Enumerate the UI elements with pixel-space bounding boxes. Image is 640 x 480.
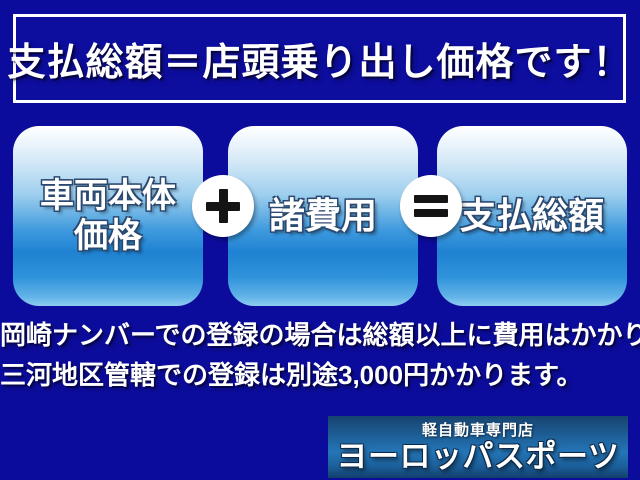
headline-text: 支払総額＝店頭乗り出し価格です！ [8,31,632,86]
note-line-mikawa: 三河地区管轄での登録は別途3,000円かかります。 [0,356,640,396]
shop-name: ヨーロッパスポーツ [337,441,620,472]
formula-box-total-payment: 支払総額 [437,126,627,306]
vehicle-price-label: 車両本体 価格 [40,176,176,256]
equals-icon-bottom-bar [414,209,448,217]
vehicle-price-label-line1: 車両本体 [40,177,176,215]
shop-logo: 軽自動車専門店 ヨーロッパスポーツ [328,416,628,478]
note-line-okazaki: 岡崎ナンバーでの登録の場合は総額以上に費用はかかりません。 [0,316,640,356]
plus-icon-vertical-bar [219,189,228,223]
price-banner: 支払総額＝店頭乗り出し価格です！ 車両本体 価格 諸費用 支払総額 岡崎ナンバー… [0,0,640,480]
formula-box-fees: 諸費用 [228,126,418,306]
equals-icon [400,175,462,237]
plus-icon [192,175,254,237]
notes-block: 岡崎ナンバーでの登録の場合は総額以上に費用はかかりません。 三河地区管轄での登録… [0,316,640,395]
shop-tagline: 軽自動車専門店 [422,423,534,438]
fees-label: 諸費用 [269,195,377,237]
headline-box: 支払総額＝店頭乗り出し価格です！ [13,14,626,103]
vehicle-price-label-line2: 価格 [74,217,142,255]
equals-icon-top-bar [414,195,448,203]
price-formula: 車両本体 価格 諸費用 支払総額 [0,126,640,306]
formula-box-vehicle-price: 車両本体 価格 [13,126,203,306]
total-payment-label: 支払総額 [460,195,604,237]
